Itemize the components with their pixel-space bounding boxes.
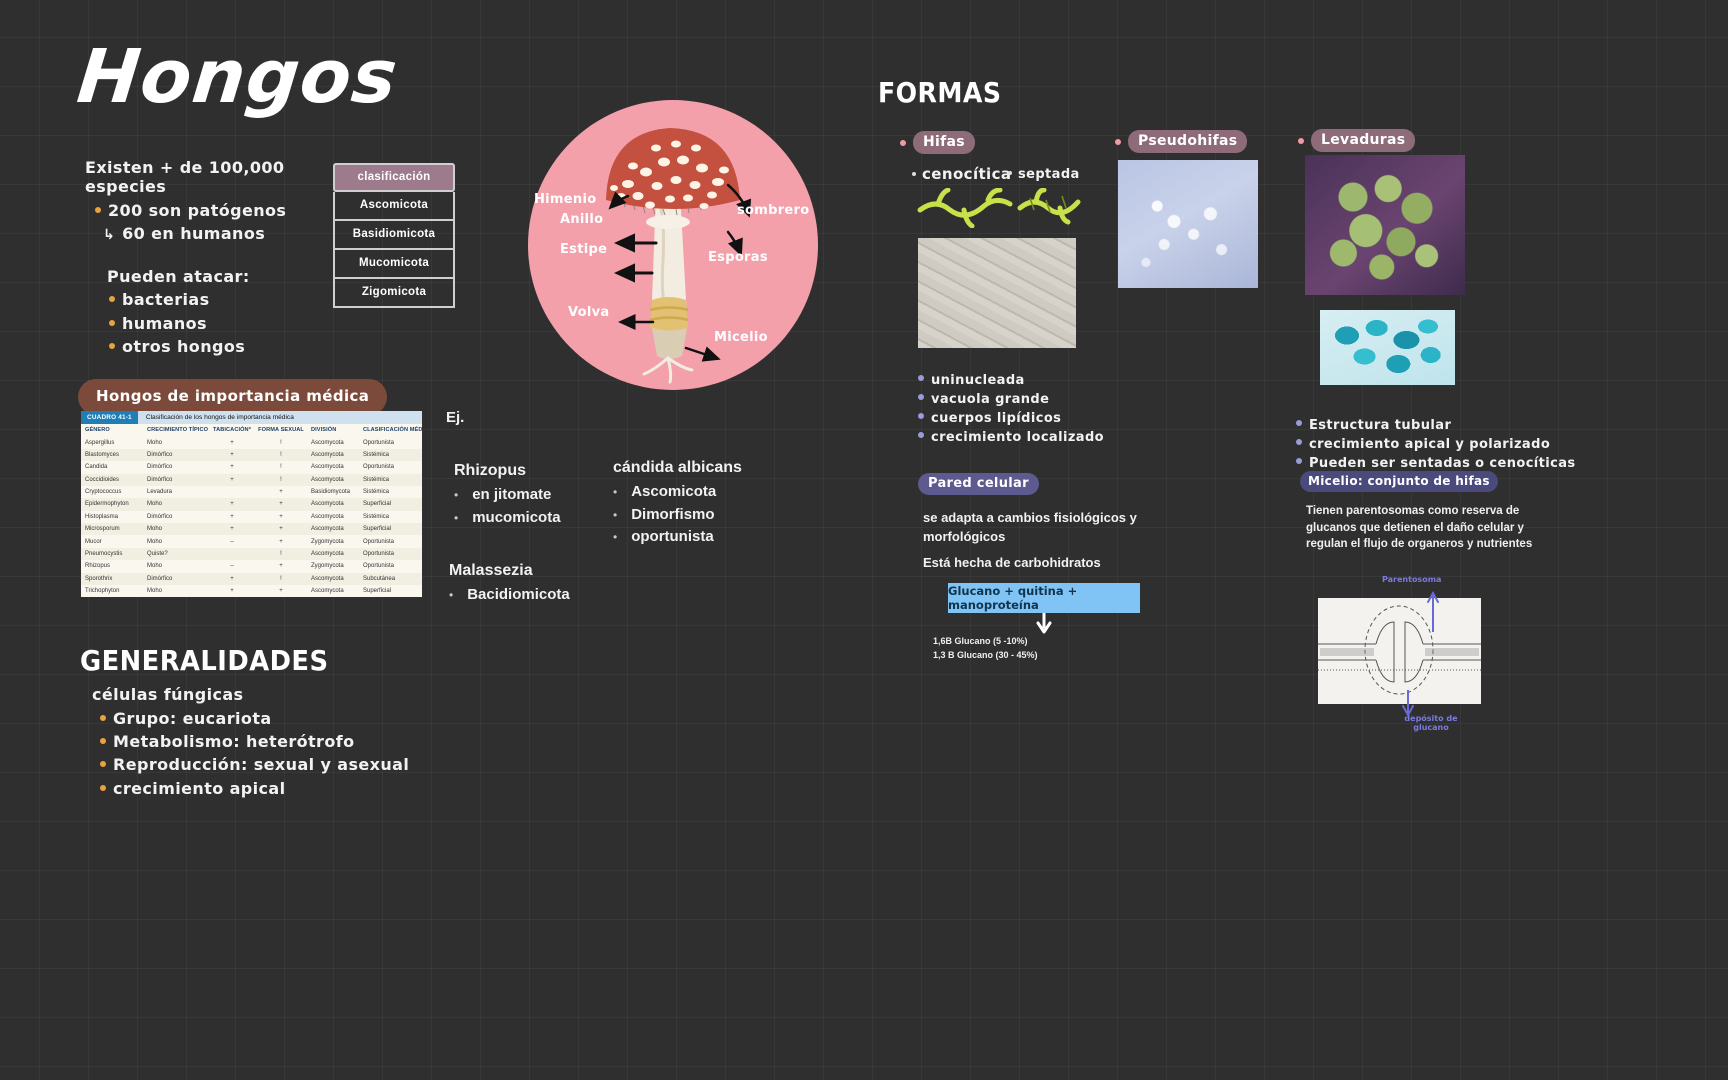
parentosoma-illustration [1318, 598, 1481, 704]
table-row: EpidermophytonMoho++AscomycotaSuperficia… [81, 498, 422, 510]
hifas-bullet-label: vacuola grande [931, 391, 1049, 410]
pseudohifas-pill: Pseudohifas [1128, 130, 1247, 153]
table-cell: Oportunista [359, 461, 422, 473]
hifas-micrograph [918, 238, 1076, 348]
table-cell: Superficial [359, 585, 422, 597]
example-title: Malassezia [449, 562, 649, 580]
mushroom-label-volva: Volva [568, 305, 609, 320]
example-title: Rhizopus [454, 462, 624, 480]
col-header-crecimiento: CRECIMIENTO TÍPICO [143, 424, 209, 436]
bullet-dot-icon [900, 140, 906, 146]
clasificacion-row: Zigomicota [333, 279, 455, 308]
examples-block: Ej. Rhizopus • en jitomate • mucomicota … [446, 409, 464, 462]
parentosoma-diagram [1318, 598, 1481, 704]
clasificacion-row: Basidiomicota [333, 221, 455, 250]
bullet-dot-icon [918, 394, 924, 400]
attack-item-label: humanos [122, 312, 207, 335]
pared-celular-line2: Está hecha de carbohidratos [923, 554, 1163, 573]
glucano-note-line: 1,3 B Glucano (30 - 45%) [933, 649, 1038, 663]
table-cell: Dimórfico [143, 573, 209, 585]
col-header-clasificacion: CLASIFICACIÓN MÉDICA [359, 424, 422, 436]
attack-item-label: otros hongos [122, 335, 245, 358]
mushroom-diagram: Himenio Anillo Estipe Volva sombrero Esp… [528, 100, 818, 390]
bullet-dot-icon [109, 343, 115, 349]
bullet-dot-icon [1008, 171, 1012, 175]
table-cell: Candida [81, 461, 143, 473]
attack-item: bacterias [109, 288, 345, 311]
table-cell: – [209, 535, 257, 547]
parentosoma-pointer-arrow-icon [1425, 590, 1441, 632]
table-cell: + [209, 461, 257, 473]
table-cell: ! [257, 461, 307, 473]
table-cell: + [257, 523, 307, 535]
table-row: PneumocystisQuiste?!AscomycotaOportunist… [81, 548, 422, 560]
example-title: cándida albicans [613, 459, 813, 477]
table-cell: Moho [143, 585, 209, 597]
table-cell: ! [257, 449, 307, 461]
cenocitica-hypha-sketch [916, 188, 1016, 228]
intro-pathogens: 200 son patógenos [108, 199, 286, 222]
table-row: MicrosporumMoho++AscomycotaSuperficial [81, 523, 422, 535]
pared-celular-line1: se adapta a cambios fisiológicos y morfo… [923, 509, 1158, 547]
table-cell: + [209, 474, 257, 486]
hifas-bullet-label: crecimiento localizado [931, 429, 1104, 448]
table-cell: Dimórfico [143, 511, 209, 523]
col-header-tabicacion: TABICACIÓN* [209, 424, 257, 436]
table-row: CandidaDimórfico+!AscomycotaOportunista [81, 461, 422, 473]
bullet-dot-icon [912, 172, 916, 176]
intro-species-line: Existen + de 100,000 especies [85, 158, 345, 196]
table-cell: Ascomycota [307, 498, 359, 510]
table-cell: ! [257, 474, 307, 486]
formas-title: FORMAS [878, 76, 1001, 109]
bullet-dot-icon [95, 207, 101, 213]
table-cell: Sistémica [359, 486, 422, 498]
glucano-notes: 1,6B Glucano (5 -10%) 1,3 B Glucano (30 … [933, 635, 1038, 662]
pared-celular-pill: Pared celular [918, 473, 1039, 495]
table-cell: Oportunista [359, 535, 422, 547]
table-caption: Clasificación de los hongos de importanc… [138, 411, 302, 424]
micelio-pill: Micelio: conjunto de hifas [1300, 471, 1498, 492]
medical-fungi-table: CUADRO 41-1 Clasificación de los hongos … [81, 411, 422, 597]
table-cell: Sistémica [359, 449, 422, 461]
example-group-malassezia: Malassezia • Bacidiomicota [449, 562, 649, 607]
levaduras-bullet-list: Estructura tubular crecimiento apical y … [1296, 417, 1576, 474]
clasificacion-table: clasificación Ascomicota Basidiomicota M… [333, 163, 455, 308]
bullet-dot-icon: • [613, 483, 617, 501]
hifa-type-label: cenocítica [922, 165, 1011, 183]
table-cell: ! [257, 436, 307, 448]
attack-item-label: bacterias [122, 288, 210, 311]
example-item: • mucomicota [454, 507, 624, 530]
table-cell: Oportunista [359, 436, 422, 448]
table-cell: Cryptococcus [81, 486, 143, 498]
example-item-label: en jitomate [472, 484, 551, 507]
table-cell: + [209, 585, 257, 597]
page-title: Hongos [73, 34, 401, 120]
table-row: SporothrixDimórfico+!AscomycotaSubcutáne… [81, 573, 422, 585]
bullet-dot-icon [100, 715, 106, 721]
table-cell [209, 548, 257, 560]
table-cell: ! [257, 573, 307, 585]
table-cell: + [209, 523, 257, 535]
levaduras-header: Levaduras [1298, 129, 1415, 152]
generalidades-item-label: Grupo: eucariota [113, 707, 272, 730]
intro-humans-row: ↳ 60 en humanos [103, 222, 345, 245]
table-cell: Ascomycota [307, 548, 359, 560]
table-cell: + [209, 511, 257, 523]
example-item: • Bacidiomicota [449, 584, 649, 607]
example-item-label: oportunista [631, 526, 714, 549]
hifas-pill: Hifas [913, 131, 975, 154]
table-cell: Moho [143, 523, 209, 535]
levaduras-pill: Levaduras [1311, 129, 1415, 152]
example-item-label: Dimorfismo [631, 504, 714, 527]
table-cell: + [257, 560, 307, 572]
table-cell: Ascomycota [307, 449, 359, 461]
bullet-dot-icon [1296, 420, 1302, 426]
table-cell: Sistémica [359, 474, 422, 486]
table-body: AspergillusMoho+!AscomycotaOportunistaBl… [81, 436, 422, 597]
example-item: • oportunista [613, 526, 813, 549]
table-cell: Zygomycota [307, 535, 359, 547]
table-cell: Dimórfico [143, 474, 209, 486]
table-row: BlastomycesDimórfico+!AscomycotaSistémic… [81, 449, 422, 461]
hifas-bullet: uninucleada [918, 372, 1104, 391]
table-cell: Ascomycota [307, 585, 359, 597]
table-row: HistoplasmaDimórfico++AscomycotaSistémic… [81, 511, 422, 523]
example-group-rhizopus: Rhizopus • en jitomate • mucomicota [454, 462, 624, 529]
table-header-row: GÉNERO CRECIMIENTO TÍPICO TABICACIÓN* FO… [81, 424, 422, 436]
levaduras-micrograph [1305, 155, 1465, 295]
table-cell: Ascomycota [307, 461, 359, 473]
table-cell: Sistémica [359, 511, 422, 523]
bullet-dot-icon [1296, 458, 1302, 464]
table-cell: Histoplasma [81, 511, 143, 523]
table-cell: Microsporum [81, 523, 143, 535]
clasificacion-header: clasificación [333, 163, 455, 192]
table-cell: Oportunista [359, 548, 422, 560]
table-cell: Rhizopus [81, 560, 143, 572]
table-cell: + [209, 498, 257, 510]
table-cell: Sporothrix [81, 573, 143, 585]
intro-humans: 60 en humanos [122, 222, 265, 245]
bullet-dot-icon [1298, 138, 1304, 144]
generalidades-item-label: Metabolismo: heterótrofo [113, 730, 355, 753]
table-cell: Dimórfico [143, 461, 209, 473]
generalidades-block: células fúngicas Grupo: eucariota Metabo… [92, 685, 409, 800]
bullet-dot-icon [918, 413, 924, 419]
bullet-dot-icon: • [613, 528, 617, 546]
table-cell: Moho [143, 535, 209, 547]
hifas-header: Hifas [900, 131, 975, 154]
mushroom-label-esporas: Esporas [708, 250, 768, 265]
table-cell: Oportunista [359, 560, 422, 572]
table-cell: + [257, 585, 307, 597]
table-cell: + [257, 498, 307, 510]
bullet-dot-icon [100, 761, 106, 767]
table-cell: Zygomycota [307, 560, 359, 572]
table-cell: Coccidioides [81, 474, 143, 486]
table-row: CryptococcusLevadura+BasidiomycotaSistém… [81, 486, 422, 498]
table-cell: Moho [143, 498, 209, 510]
example-item-label: Bacidiomicota [467, 584, 570, 607]
table-cell: Blastomyces [81, 449, 143, 461]
deposito-pointer-arrow-icon [1400, 690, 1416, 716]
hifa-type-cenocitica: cenocítica [912, 165, 1011, 183]
table-cell: + [209, 573, 257, 585]
bullet-dot-icon [918, 432, 924, 438]
example-item-label: Ascomicota [631, 481, 716, 504]
table-cell: Epidermophyton [81, 498, 143, 510]
bullet-dot-icon [100, 785, 106, 791]
table-cell: Superficial [359, 498, 422, 510]
parentosoma-label-top: Parentosoma [1382, 575, 1441, 584]
attack-item: otros hongos [109, 335, 345, 358]
generalidades-item: Reproducción: sexual y asexual [100, 753, 409, 776]
table-cell: Pneumocystis [81, 548, 143, 560]
pseudohifas-header: Pseudohifas [1115, 130, 1247, 153]
col-header-forma-sexual: FORMA SEXUAL [257, 424, 307, 436]
hifas-bullet-label: cuerpos lipídicos [931, 410, 1061, 429]
table-cell: Superficial [359, 523, 422, 535]
table-cell: Ascomycota [307, 474, 359, 486]
mushroom-label-micelio: Micelio [714, 330, 768, 345]
col-header-genero: GÉNERO [81, 424, 143, 436]
bullet-dot-icon: • [449, 586, 453, 604]
example-item-label: mucomicota [472, 507, 560, 530]
bullet-dot-icon [918, 375, 924, 381]
bullet-dot-icon [1115, 139, 1121, 145]
hifas-bullet: vacuola grande [918, 391, 1104, 410]
generalidades-item: Grupo: eucariota [100, 707, 409, 730]
medical-importance-banner: Hongos de importancia médica [78, 379, 387, 415]
table-cell: – [209, 560, 257, 572]
bullet-dot-icon: • [613, 506, 617, 524]
bullet-dot-icon [109, 320, 115, 326]
table-topbar: CUADRO 41-1 Clasificación de los hongos … [81, 411, 422, 424]
table-cell: Moho [143, 560, 209, 572]
table-cell: Levadura [143, 486, 209, 498]
down-arrow-icon [1035, 613, 1055, 635]
intro-block: Existen + de 100,000 especies 200 son pa… [85, 158, 345, 358]
table-row: AspergillusMoho+!AscomycotaOportunista [81, 436, 422, 448]
glucano-box: Glucano + quitina + manoproteína [948, 583, 1140, 613]
attack-item: humanos [109, 312, 345, 335]
table-cell: Ascomycota [307, 523, 359, 535]
generalidades-item-label: crecimiento apical [113, 777, 286, 800]
infographic-page: Hongos Existen + de 100,000 especies 200… [0, 0, 1728, 1080]
clasificacion-row: Ascomicota [333, 192, 455, 221]
mushroom-label-estipe: Estipe [560, 242, 607, 257]
glucano-note-line: 1,6B Glucano (5 -10%) [933, 635, 1038, 649]
pared-celular-header: Pared celular [918, 473, 1039, 495]
table-cuadro-label: CUADRO 41-1 [81, 411, 138, 424]
hifas-bullet: cuerpos lipídicos [918, 410, 1104, 429]
parentosoma-label-bottom: depósito de glucano [1386, 714, 1476, 732]
hifa-type-label: septada [1018, 167, 1080, 182]
bullet-dot-icon: • [454, 509, 458, 527]
pseudohifas-micrograph [1118, 160, 1258, 288]
table-cell: + [209, 436, 257, 448]
table-cell: Aspergillus [81, 436, 143, 448]
attack-header: Pueden atacar: [107, 267, 345, 286]
mushroom-label-himenio: Himenio [534, 192, 596, 207]
generalidades-title: GENERALIDADES [80, 644, 329, 677]
intro-pathogens-row: 200 son patógenos [95, 199, 345, 222]
table-cell: Ascomycota [307, 573, 359, 585]
yeast-cells-micrograph [1320, 310, 1455, 385]
septada-hypha-sketch [1016, 188, 1094, 228]
table-cell: Ascomycota [307, 511, 359, 523]
table-row: CoccidioidesDimórfico+!AscomycotaSistémi… [81, 474, 422, 486]
table-cell: + [209, 449, 257, 461]
levaduras-bullet-label: Estructura tubular [1309, 417, 1451, 436]
table-cell: Quiste? [143, 548, 209, 560]
table-row: TrichophytonMoho++AscomycotaSuperficial [81, 585, 422, 597]
bullet-dot-icon [1296, 439, 1302, 445]
bullet-dot-icon [109, 296, 115, 302]
table-cell: Subcutánea [359, 573, 422, 585]
hook-arrow-icon: ↳ [103, 225, 115, 245]
example-item: • Dimorfismo [613, 504, 813, 527]
table-row: MucorMoho–+ZygomycotaOportunista [81, 535, 422, 547]
levaduras-bullet-label: crecimiento apical y polarizado [1309, 436, 1550, 455]
levaduras-bullet: crecimiento apical y polarizado [1296, 436, 1576, 455]
mushroom-label-anillo: Anillo [560, 212, 603, 227]
col-header-division: DIVISIÓN [307, 424, 359, 436]
example-item: • en jitomate [454, 484, 624, 507]
table-cell [209, 486, 257, 498]
table-cell: + [257, 511, 307, 523]
hifas-bullet-label: uninucleada [931, 372, 1025, 391]
clasificacion-row: Mucomicota [333, 250, 455, 279]
bullet-dot-icon [100, 738, 106, 744]
table-cell: + [257, 486, 307, 498]
table-cell: Mucor [81, 535, 143, 547]
examples-label: Ej. [446, 409, 464, 426]
hifa-type-septada: septada [1008, 167, 1080, 182]
mushroom-label-sombrero: sombrero [737, 203, 810, 218]
generalidades-item: Metabolismo: heterótrofo [100, 730, 409, 753]
example-group-candida: cándida albicans • Ascomicota • Dimorfis… [613, 459, 813, 549]
generalidades-item-label: Reproducción: sexual y asexual [113, 753, 409, 776]
bullet-dot-icon: • [454, 486, 458, 504]
hifas-bullet: crecimiento localizado [918, 429, 1104, 448]
hifas-bullet-list: uninucleada vacuola grande cuerpos lipíd… [918, 372, 1104, 447]
table-cell: Basidiomycota [307, 486, 359, 498]
table-cell: Moho [143, 436, 209, 448]
micelio-pill-wrap: Micelio: conjunto de hifas [1300, 471, 1498, 492]
generalidades-subtitle: células fúngicas [92, 685, 409, 704]
table-row: RhizopusMoho–+ZygomycotaOportunista [81, 560, 422, 572]
table-cell: Trichophyton [81, 585, 143, 597]
parentosoma-note: Tienen parentosomas como reserva de gluc… [1306, 503, 1536, 553]
table-cell: Dimórfico [143, 449, 209, 461]
table-cell: Ascomycota [307, 436, 359, 448]
levaduras-bullet: Estructura tubular [1296, 417, 1576, 436]
generalidades-item: crecimiento apical [100, 777, 409, 800]
table-cell: + [257, 535, 307, 547]
table-cell: ! [257, 548, 307, 560]
example-item: • Ascomicota [613, 481, 813, 504]
